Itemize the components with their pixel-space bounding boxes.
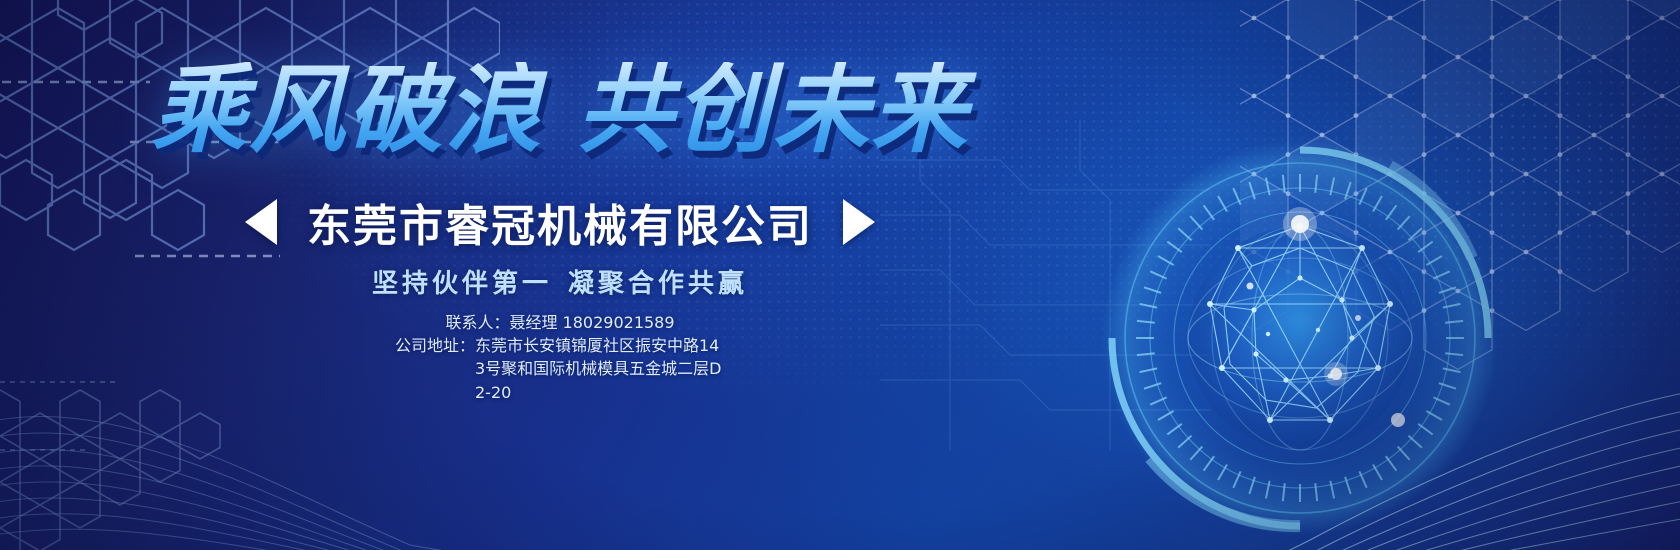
promotional-banner: 乘风破浪共创未来 东莞市睿冠机械有限公司 坚持伙伴第一凝聚合作共赢 联系人： 聂… (0, 0, 1680, 550)
contact-person-row: 联系人： 聂经理 18029021589 (445, 311, 674, 334)
company-name-row: 东莞市睿冠机械有限公司 (0, 190, 1120, 254)
triangle-right-icon (843, 199, 875, 245)
slogan-part-2: 凝聚合作共赢 (568, 269, 748, 299)
triangle-left-icon (245, 199, 277, 245)
company-name: 东莞市睿冠机械有限公司 (307, 190, 813, 254)
company-address-value: 东莞市长安镇锦厦社区振安中路143号聚和国际机械模具五金城二层D2-20 (475, 334, 725, 404)
wave-lines-right (1190, 380, 1680, 550)
company-address-row: 公司地址： 东莞市长安镇锦厦社区振安中路143号聚和国际机械模具五金城二层D2-… (395, 334, 725, 404)
headline-part-1: 乘风破浪 (151, 54, 543, 166)
headline: 乘风破浪共创未来 (0, 62, 1120, 158)
contact-person-value: 聂经理 18029021589 (509, 311, 674, 334)
slogan: 坚持伙伴第一凝聚合作共赢 (0, 263, 1120, 300)
company-address-label: 公司地址： (395, 334, 475, 357)
slogan-part-1: 坚持伙伴第一 (372, 269, 552, 299)
headline-part-2: 共创未来 (577, 54, 969, 166)
banner-content: 乘风破浪共创未来 东莞市睿冠机械有限公司 坚持伙伴第一凝聚合作共赢 联系人： 聂… (0, 0, 1120, 550)
contact-block: 联系人： 聂经理 18029021589 公司地址： 东莞市长安镇锦厦社区振安中… (0, 311, 1120, 404)
contact-person-label: 联系人： (445, 311, 509, 334)
